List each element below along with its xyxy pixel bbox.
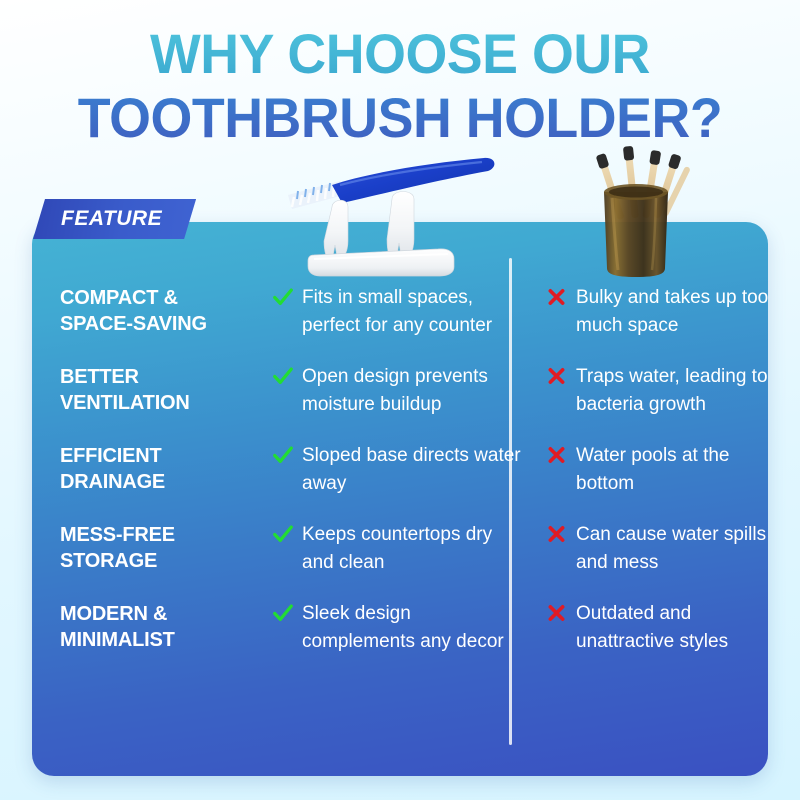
feature-label: COMPACT & SPACE-SAVING — [60, 284, 272, 337]
pro-cell: Sloped base directs water away — [272, 442, 524, 497]
feature-label: BETTER VENTILATION — [60, 363, 272, 416]
pro-text: Sleek design complements any decor — [302, 600, 524, 655]
con-text: Bulky and takes up too much space — [576, 284, 768, 339]
red-x-icon — [546, 364, 568, 390]
pro-text: Keeps countertops dry and clean — [302, 521, 524, 576]
table-row: COMPACT & SPACE-SAVING Fits in small spa… — [60, 284, 744, 339]
red-x-icon — [546, 443, 568, 469]
feature-banner-label: FEATURE — [61, 207, 162, 231]
con-cell: Outdated and unattractive styles — [524, 600, 768, 655]
pro-text: Sloped base directs water away — [302, 442, 524, 497]
table-row: MESS-FREE STORAGE Keeps countertops dry … — [60, 521, 744, 576]
tooth-prong-left — [324, 200, 348, 259]
con-cell: Bulky and takes up too much space — [524, 284, 768, 339]
toothbrush-holder-image — [288, 155, 498, 280]
con-text: Water pools at the bottom — [576, 442, 768, 497]
feature-label: EFFICIENT DRAINAGE — [60, 442, 272, 495]
table-row: MODERN & MINIMALIST Sleek design complem… — [60, 600, 744, 655]
page-title-line-1: WHY CHOOSE OUR — [16, 26, 784, 84]
con-cell: Can cause water spills and mess — [524, 521, 768, 576]
red-x-icon — [546, 522, 568, 548]
con-cell: Traps water, leading to bacteria growth — [524, 363, 768, 418]
pro-cell: Sleek design complements any decor — [272, 600, 524, 655]
comparison-rows: COMPACT & SPACE-SAVING Fits in small spa… — [32, 284, 768, 655]
red-x-icon — [546, 285, 568, 311]
glass-cup-toothbrushes-image — [572, 140, 700, 280]
green-check-icon — [272, 601, 294, 627]
pro-cell: Open design prevents moisture buildup — [272, 363, 524, 418]
green-check-icon — [272, 443, 294, 469]
con-text: Can cause water spills and mess — [576, 521, 768, 576]
pro-text: Fits in small spaces, perfect for any co… — [302, 284, 524, 339]
page-title: WHY CHOOSE OUR TOOTHBRUSH HOLDER? — [0, 26, 800, 146]
feature-label: MODERN & MINIMALIST — [60, 600, 272, 653]
table-row: EFFICIENT DRAINAGE Sloped base directs w… — [60, 442, 744, 497]
con-text: Traps water, leading to bacteria growth — [576, 363, 768, 418]
pro-cell: Keeps countertops dry and clean — [272, 521, 524, 576]
green-check-icon — [272, 522, 294, 548]
comparison-card: COMPACT & SPACE-SAVING Fits in small spa… — [32, 222, 768, 776]
green-check-icon — [272, 364, 294, 390]
pro-cell: Fits in small spaces, perfect for any co… — [272, 284, 524, 339]
con-cell: Water pools at the bottom — [524, 442, 768, 497]
pro-text: Open design prevents moisture buildup — [302, 363, 524, 418]
page-title-line-2: TOOTHBRUSH HOLDER? — [16, 90, 784, 146]
tooth-prong-right — [387, 192, 414, 260]
green-check-icon — [272, 285, 294, 311]
red-x-icon — [546, 601, 568, 627]
table-row: BETTER VENTILATION Open design prevents … — [60, 363, 744, 418]
con-text: Outdated and unattractive styles — [576, 600, 768, 655]
feature-banner: FEATURE — [33, 199, 196, 239]
feature-label: MESS-FREE STORAGE — [60, 521, 272, 574]
